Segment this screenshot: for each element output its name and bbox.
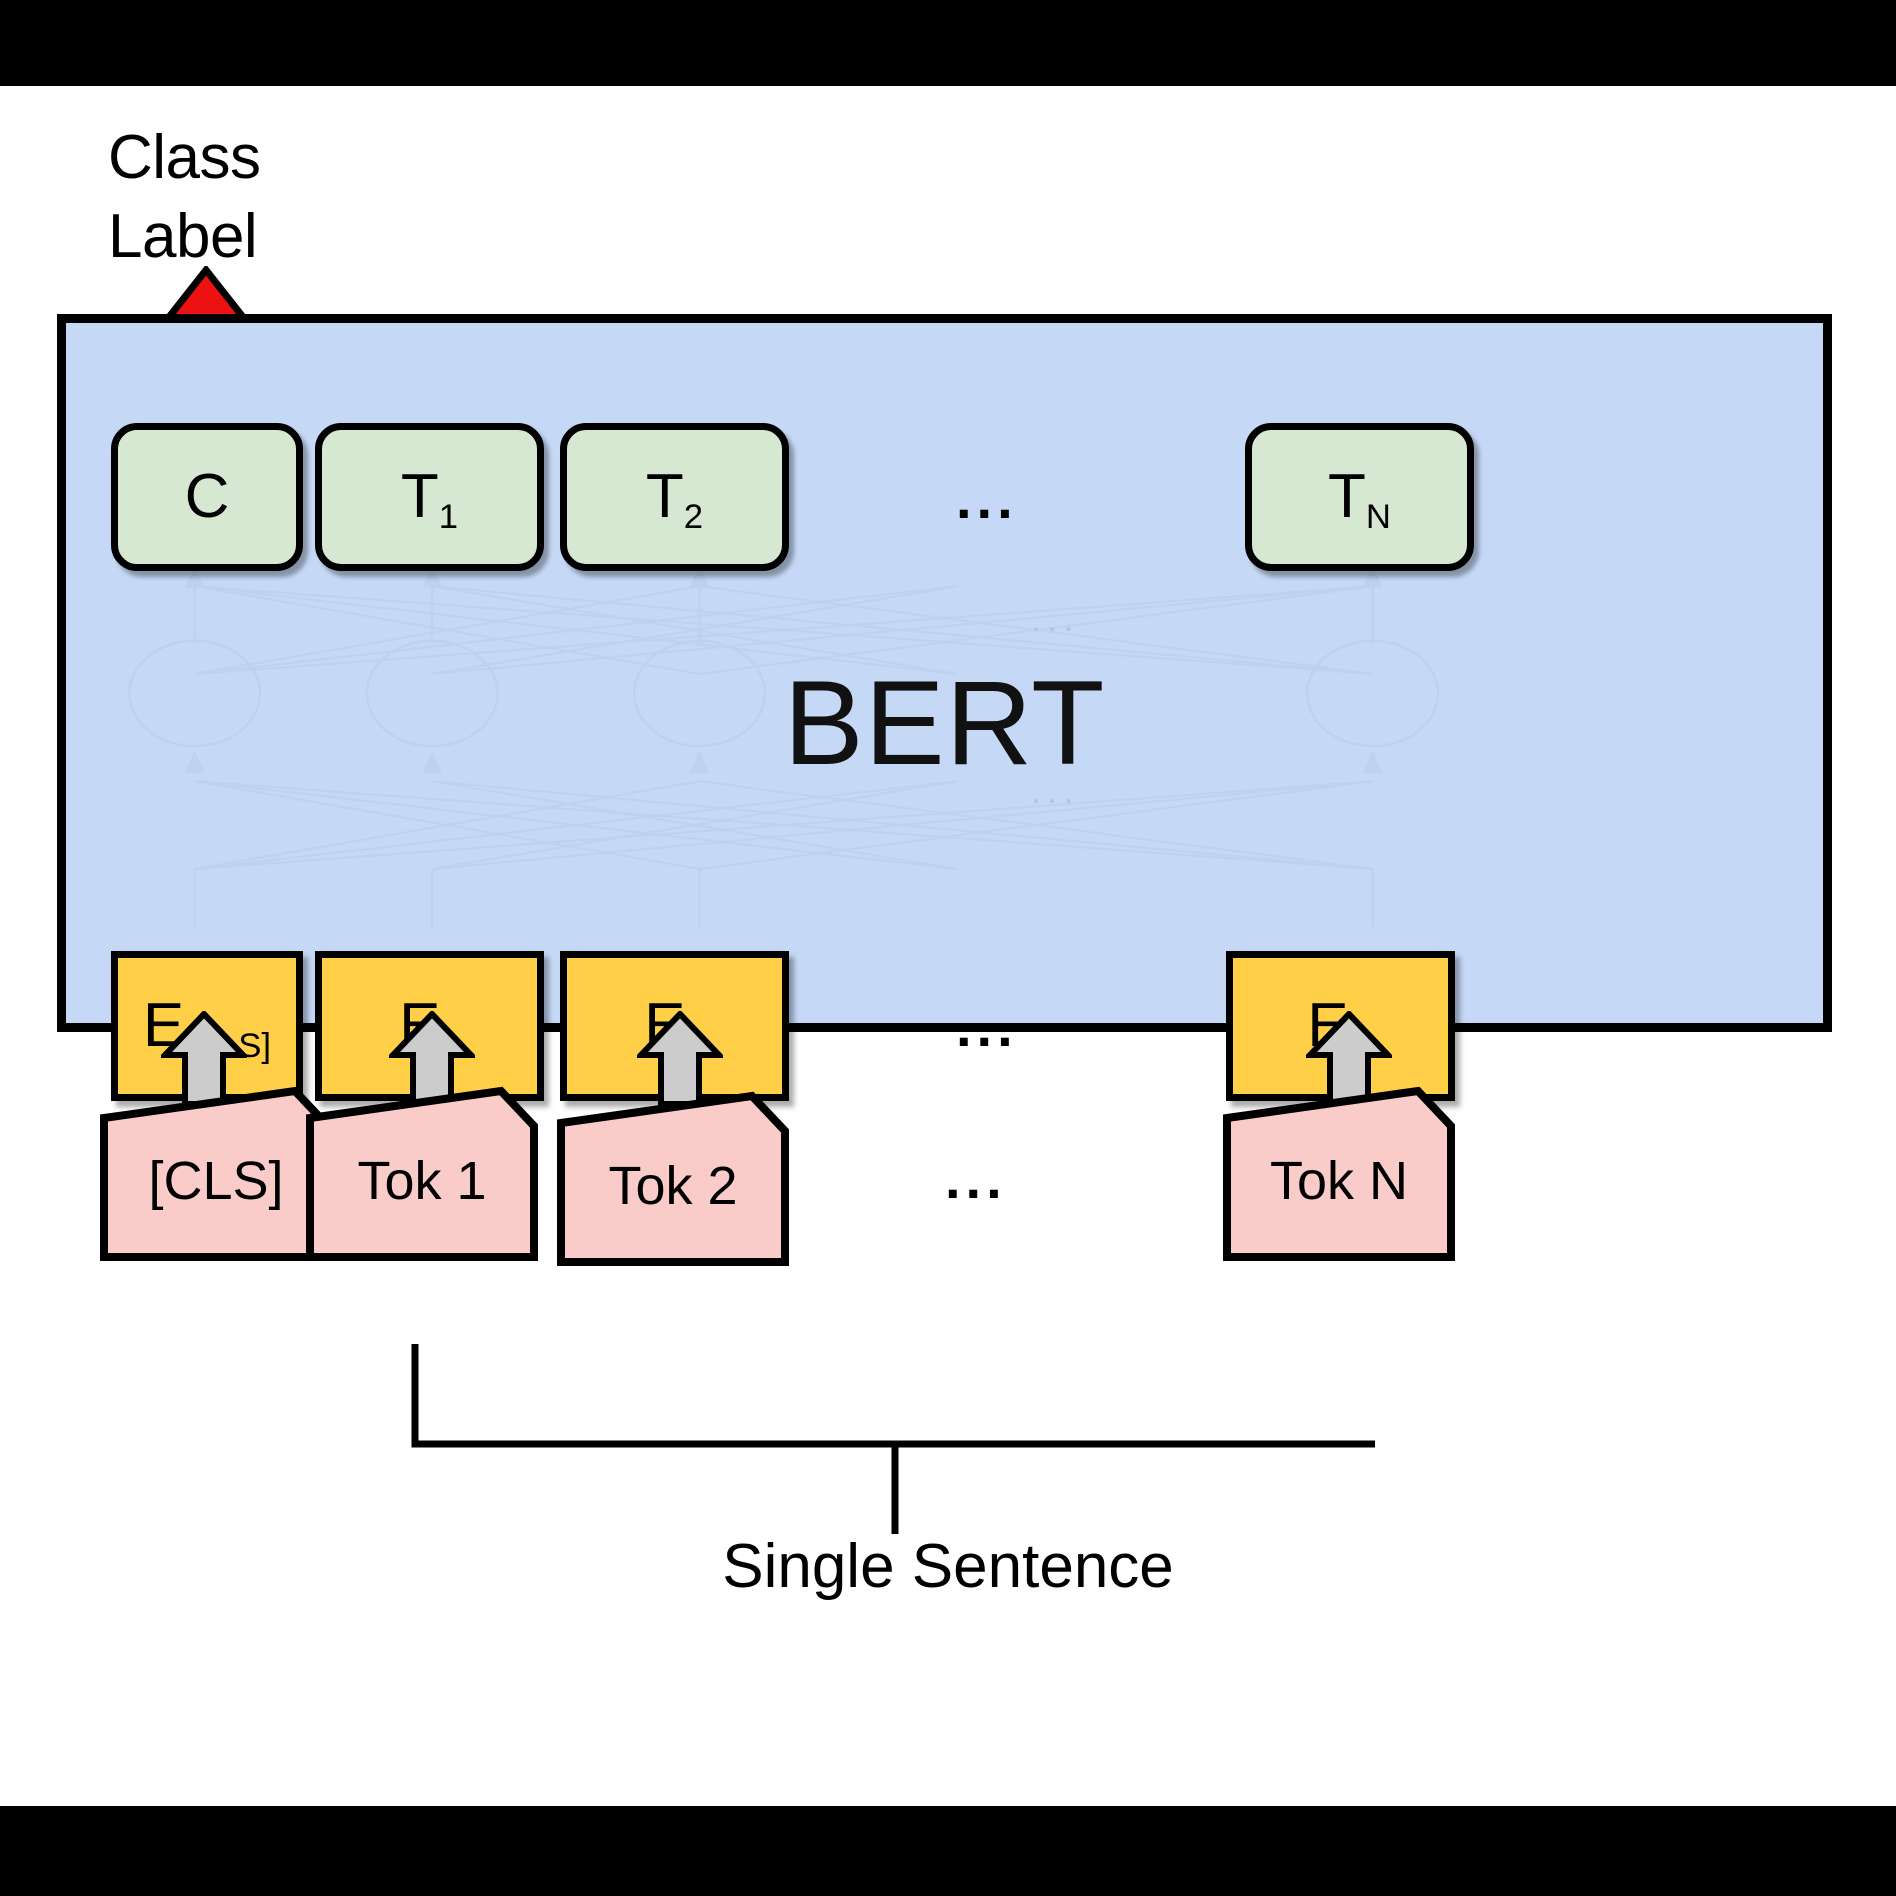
diagram-background: Class Label (0, 86, 1896, 1806)
token-box-cls-label: [CLS] (99, 1086, 333, 1262)
output-cell-t2-label: T2 (646, 466, 703, 528)
figure-canvas: Class Label (0, 0, 1896, 1896)
bert-encoder-block: BERT ... ... C T1 T2 (57, 314, 1832, 1032)
token-layer-ellipsis: ... (945, 1151, 1007, 1207)
output-cell-t1[interactable]: T1 (315, 423, 544, 571)
output-layer-ellipsis: ... (956, 471, 1018, 527)
embedding-layer-ellipsis: ... (956, 999, 1018, 1055)
output-cell-t2[interactable]: T2 (560, 423, 789, 571)
single-sentence-label: Single Sentence (0, 1536, 1896, 1598)
token-box-tokn[interactable]: Tok N (1222, 1086, 1456, 1262)
output-cell-tn[interactable]: TN (1245, 423, 1474, 571)
class-label-text: Class Label (108, 118, 408, 277)
token-box-cls[interactable]: [CLS] (99, 1086, 333, 1262)
sentence-bracket (390, 1344, 1400, 1534)
inner-ellipsis-lower: ... (1031, 775, 1080, 809)
token-box-tokn-label: Tok N (1222, 1086, 1456, 1262)
bert-model-name: BERT (66, 663, 1823, 783)
output-cell-c[interactable]: C (111, 423, 303, 571)
token-box-tok1[interactable]: Tok 1 (305, 1086, 539, 1262)
output-cell-t1-label: T1 (401, 466, 458, 528)
inner-ellipsis-upper: ... (1031, 603, 1080, 637)
token-box-tok2[interactable]: Tok 2 (556, 1091, 790, 1267)
token-box-tok1-label: Tok 1 (305, 1086, 539, 1262)
output-cell-tn-label: TN (1328, 466, 1391, 528)
token-box-tok2-label: Tok 2 (556, 1091, 790, 1267)
output-cell-c-label: C (185, 466, 230, 528)
